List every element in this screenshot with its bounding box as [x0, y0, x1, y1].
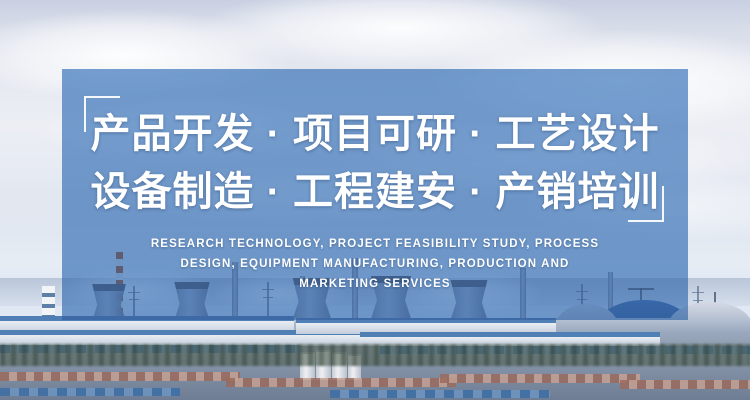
subtitle-line-1: RESEARCH TECHNOLOGY, PROJECT FEASIBILITY… — [135, 234, 615, 254]
rooftop-row — [620, 380, 750, 389]
rooftop-row — [440, 374, 640, 383]
blue-roof-row — [0, 388, 180, 396]
treeline — [0, 344, 750, 366]
industrial-services-banner: 产品开发 · 项目可研 · 工艺设计 设备制造 · 工程建安 · 产销培训 RE… — [0, 0, 750, 400]
blue-roof-row — [330, 390, 550, 398]
headline-line-1: 产品开发 · 项目可研 · 工艺设计 — [0, 110, 750, 158]
rooftop-row — [226, 378, 456, 387]
subtitle-line-3: MARKETING SERVICES — [135, 274, 615, 294]
subtitle-block: RESEARCH TECHNOLOGY, PROJECT FEASIBILITY… — [135, 234, 615, 294]
headline-line-2: 设备制造 · 工程建安 · 产销培训 — [0, 168, 750, 216]
rooftop-row — [0, 372, 240, 381]
subtitle-line-2: DESIGN, EQUIPMENT MANUFACTURING, PRODUCT… — [135, 254, 615, 274]
